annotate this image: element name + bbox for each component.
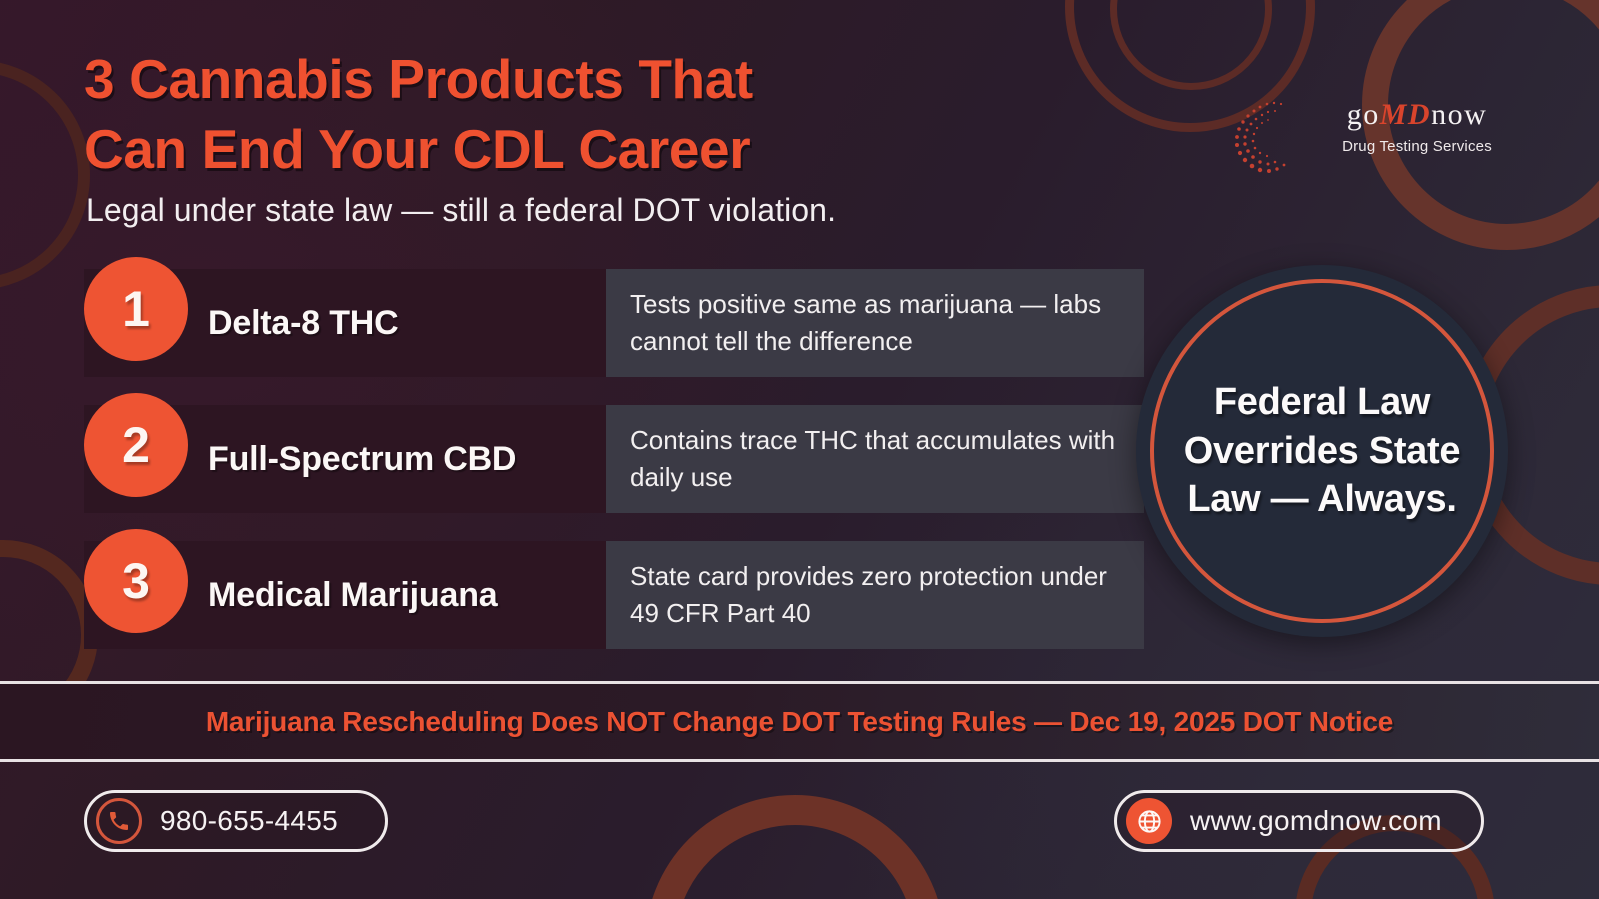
decorative-ring-icon — [0, 60, 90, 290]
row-description-panel: State card provides zero protection unde… — [606, 541, 1144, 649]
row-title-panel: 1 Delta-8 THC — [84, 269, 606, 377]
page-subtitle: Legal under state law — still a federal … — [86, 192, 1136, 229]
notice-banner-text: Marijuana Rescheduling Does NOT Change D… — [206, 706, 1393, 738]
decorative-ring-icon — [645, 795, 945, 899]
phone-contact-pill[interactable]: 980-655-4455 — [84, 790, 388, 852]
row-title-panel: 2 Full-Spectrum CBD — [84, 405, 606, 513]
logo-word-now: now — [1431, 98, 1487, 131]
row-number-badge: 3 — [84, 529, 188, 633]
halftone-spiral-icon — [1228, 98, 1306, 176]
federal-law-seal: Federal Law Overrides State Law — Always… — [1136, 265, 1508, 637]
page-title-line-2: Can End Your CDL Career — [84, 114, 1044, 184]
row-description: State card provides zero protection unde… — [606, 558, 1144, 632]
divider — [0, 759, 1599, 762]
logo-wordmark: goMDnow — [1306, 98, 1528, 132]
page-title: 3 Cannabis Products That Can End Your CD… — [84, 44, 1044, 185]
page-title-line-1: 3 Cannabis Products That — [84, 44, 1044, 114]
brand-logo: goMDnow Drug Testing Services — [1228, 96, 1528, 180]
row-title: Full-Spectrum CBD — [208, 440, 516, 479]
phone-icon — [96, 798, 142, 844]
list-item: 3 Medical Marijuana State card provides … — [84, 541, 1144, 649]
row-description: Contains trace THC that accumulates with… — [606, 422, 1144, 496]
row-title: Delta-8 THC — [208, 304, 399, 343]
phone-number: 980-655-4455 — [160, 805, 338, 837]
row-description: Tests positive same as marijuana — labs … — [606, 286, 1144, 360]
row-description-panel: Contains trace THC that accumulates with… — [606, 405, 1144, 513]
logo-word-md: MD — [1380, 98, 1431, 131]
website-contact-pill[interactable]: www.gomdnow.com — [1114, 790, 1484, 852]
logo-word-go: go — [1347, 98, 1380, 131]
logo-tagline: Drug Testing Services — [1306, 138, 1528, 155]
row-title-panel: 3 Medical Marijuana — [84, 541, 606, 649]
infographic-canvas: 3 Cannabis Products That Can End Your CD… — [0, 0, 1599, 899]
row-title: Medical Marijuana — [208, 576, 497, 615]
website-url: www.gomdnow.com — [1190, 805, 1442, 837]
row-description-panel: Tests positive same as marijuana — labs … — [606, 269, 1144, 377]
row-number-badge: 1 — [84, 257, 188, 361]
seal-text: Federal Law Overrides State Law — Always… — [1136, 378, 1508, 524]
list-item: 2 Full-Spectrum CBD Contains trace THC t… — [84, 405, 1144, 513]
globe-icon — [1126, 798, 1172, 844]
list-item: 1 Delta-8 THC Tests positive same as mar… — [84, 269, 1144, 377]
row-number-badge: 2 — [84, 393, 188, 497]
notice-banner: Marijuana Rescheduling Does NOT Change D… — [0, 684, 1599, 759]
decorative-ring-icon — [1110, 0, 1272, 90]
